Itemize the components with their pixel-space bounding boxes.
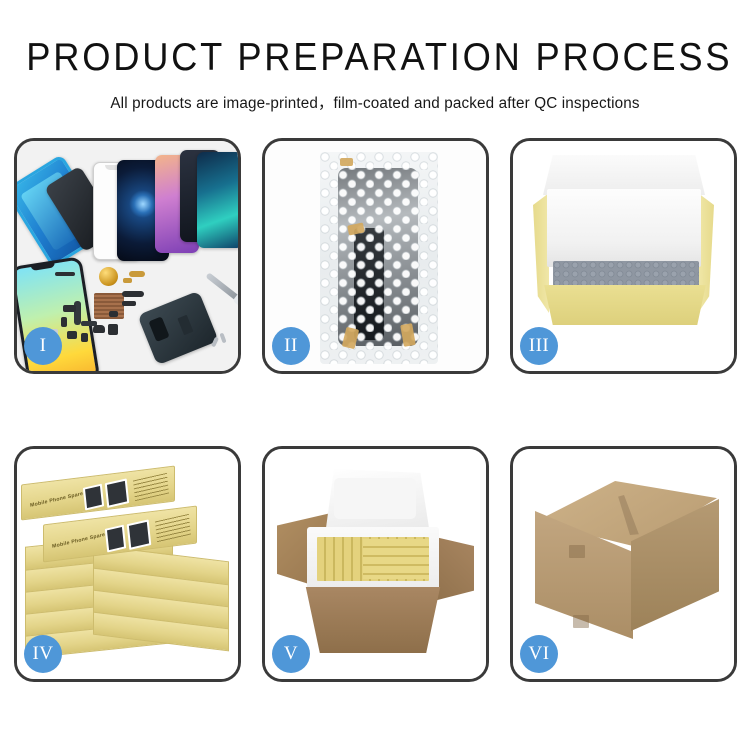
box-window-lower-b	[127, 519, 152, 550]
chip-component	[55, 272, 75, 276]
styrofoam-lid	[321, 469, 429, 533]
gold-clip-component	[123, 278, 132, 283]
small-chip-f	[109, 311, 118, 317]
bubble-texture	[320, 152, 438, 364]
tape-piece-top	[340, 158, 353, 166]
small-chip-e	[108, 324, 118, 335]
step-panel-5: V	[262, 446, 489, 682]
bubble-wrap-bag	[320, 152, 438, 364]
carton-tab-upper	[569, 545, 585, 558]
yellow-boxes-row-b	[363, 539, 429, 579]
carton-front-panel	[303, 587, 443, 653]
grey-bubble-padding	[553, 261, 699, 287]
infographic-page: PRODUCT PREPARATION PROCESS All products…	[0, 0, 750, 750]
box-window-top-a	[83, 484, 104, 511]
step-panel-3: III	[510, 138, 737, 374]
step-panel-4: Mobile Phone Spare Parts Mobile Phone Sp…	[14, 446, 241, 682]
page-subtitle: All products are image-printed，film-coat…	[4, 91, 747, 113]
small-chip-b	[61, 317, 67, 327]
small-chip-d	[81, 333, 88, 342]
header: PRODUCT PREPARATION PROCESS All products…	[0, 0, 750, 113]
ribbon-cable-component	[122, 291, 144, 297]
step-panel-2: II	[262, 138, 489, 374]
gold-connector-component	[129, 271, 145, 277]
step-badge-2: II	[272, 327, 310, 365]
step-panel-6: VI	[510, 446, 737, 682]
small-chip-a	[63, 305, 76, 312]
box-window-lower-a	[105, 525, 126, 553]
white-foam-sheet	[547, 189, 701, 267]
screw-component-b	[219, 333, 226, 344]
carton-tab-lower	[573, 615, 589, 628]
screwdriver-icon	[205, 272, 238, 301]
step-badge-6: VI	[520, 635, 558, 673]
page-title: PRODUCT PREPARATION PROCESS	[26, 38, 724, 77]
box-textblock-top	[133, 473, 169, 501]
process-grid: I II	[14, 138, 736, 682]
gold-speaker-component	[99, 267, 118, 286]
small-chip-g	[122, 301, 136, 306]
box-window-top-b	[105, 478, 129, 508]
step-panel-1: I	[14, 138, 241, 374]
step-badge-3: III	[520, 327, 558, 365]
teal-swirl-phone	[197, 152, 238, 248]
box-textblock-lower	[155, 514, 191, 543]
step-badge-5: V	[272, 635, 310, 673]
small-chip-c	[67, 331, 77, 339]
step-badge-1: I	[24, 327, 62, 365]
camera-module-component	[93, 325, 105, 333]
phone-back-cover	[137, 291, 218, 366]
step-badge-4: IV	[24, 635, 62, 673]
inner-box-front-panel	[539, 285, 711, 325]
